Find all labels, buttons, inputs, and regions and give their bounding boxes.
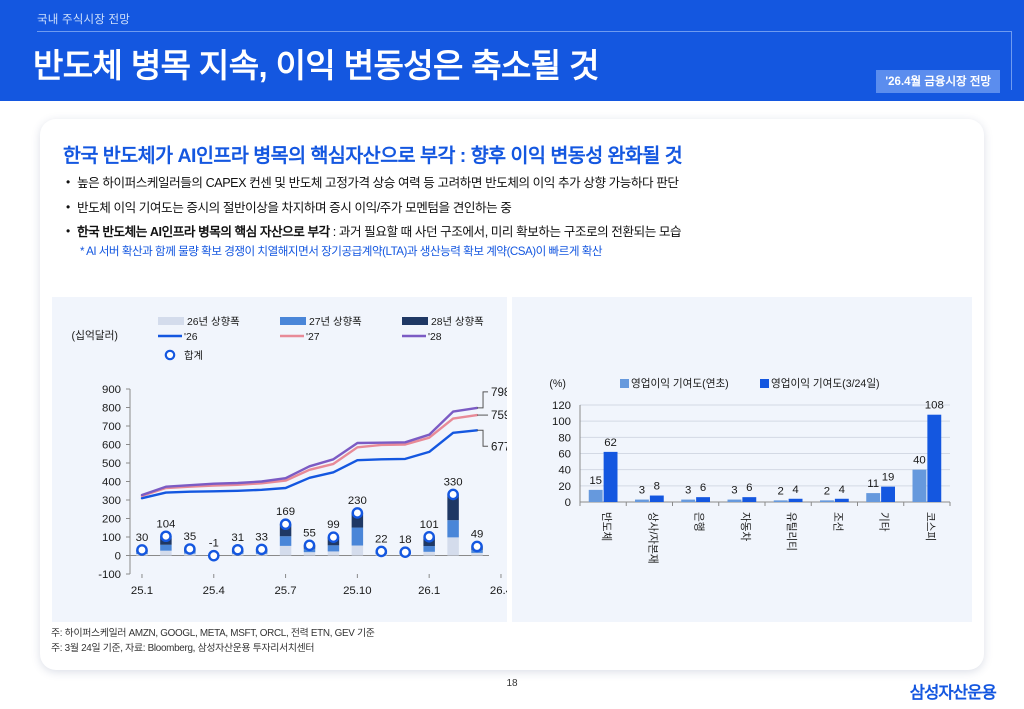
bar — [881, 487, 895, 502]
total-marker — [305, 541, 314, 550]
bar-value-label: 3 — [639, 485, 645, 497]
bar-value-label: 99 — [327, 519, 340, 531]
trend-line — [142, 415, 477, 496]
category-label: 은행 — [693, 512, 705, 532]
y-tick-label: 80 — [558, 432, 571, 444]
bar — [650, 496, 664, 502]
y-tick-label: 120 — [552, 400, 571, 412]
bar-value-label: 169 — [276, 506, 295, 518]
bar — [742, 497, 756, 502]
category-label: 상사/자본재 — [646, 512, 658, 564]
stacked-bar-segment — [352, 546, 363, 556]
legend-label: 합계 — [184, 350, 203, 362]
total-marker — [425, 532, 434, 541]
total-marker — [353, 508, 362, 517]
stacked-bar-segment — [280, 546, 291, 556]
category-label: 반도체 — [600, 512, 612, 541]
footnote-source-2: 주: 3월 24일 기준, 자료: Bloomberg, 삼성자산운용 투자리서… — [51, 640, 314, 654]
total-marker — [377, 547, 386, 556]
y-tick-label: 0 — [565, 497, 571, 509]
line-end-label: 677 — [491, 440, 507, 453]
bar-value-label: 15 — [589, 475, 602, 487]
total-marker — [329, 533, 338, 542]
bullet-list: 높은 하이퍼스케일러들의 CAPEX 컨센 및 반도체 고정가격 상승 여력 등… — [66, 177, 966, 259]
bar-value-label: 108 — [925, 400, 944, 412]
bar-value-label: 40 — [913, 455, 926, 467]
total-marker — [281, 520, 290, 529]
x-tick-label: 25.4 — [203, 585, 225, 597]
total-marker — [257, 545, 266, 554]
bullet-item: 높은 하이퍼스케일러들의 CAPEX 컨센 및 반도체 고정가격 상승 여력 등… — [66, 177, 966, 190]
stacked-bar-segment — [160, 545, 171, 551]
callout-leader — [477, 430, 488, 446]
left-chart-svg: (십억달러)26년 상향폭27년 상향폭28년 상향폭'26'27'28합계90… — [52, 297, 507, 622]
bar-value-label: 62 — [604, 437, 617, 449]
y-tick-label: 60 — [558, 449, 571, 461]
y-tick-label: 100 — [102, 532, 121, 544]
bar-value-label: 6 — [746, 482, 752, 494]
bar — [681, 500, 695, 502]
x-tick-label: 25.7 — [274, 585, 296, 597]
bullet-bold-part: 한국 반도체는 AI인프라 병목의 핵심 자산으로 부각 — [77, 225, 330, 239]
bar-value-label: 2 — [778, 485, 784, 497]
stacked-bar-segment — [471, 553, 482, 556]
y-tick-label: 20 — [558, 481, 571, 493]
category-label: 유틸리티 — [785, 512, 798, 551]
callout-leader — [477, 392, 488, 408]
y-tick-label: 200 — [102, 514, 121, 526]
right-axis-unit: (%) — [549, 378, 566, 390]
y-tick-label: 0 — [115, 551, 121, 563]
legend-label: '28 — [428, 332, 442, 343]
legend-label: 28년 상향폭 — [431, 316, 484, 328]
bar-value-label: 330 — [444, 476, 463, 488]
x-tick-label: 26.4 — [490, 585, 507, 597]
bar-value-label: 230 — [348, 495, 367, 507]
total-marker — [209, 551, 218, 560]
eyebrow-text: 국내 주식시장 전망 — [37, 11, 130, 27]
category-label: 코스피 — [924, 512, 936, 541]
slide-root: 국내 주식시장 전망 반도체 병목 지속, 이익 변동성은 축소될 것 '26.… — [0, 0, 1024, 709]
right-chart-panel: (%)영업이익 기여도(연초)영업이익 기여도(3/24일)1201008060… — [512, 297, 972, 622]
stacked-bar-segment — [160, 551, 171, 556]
legend-label: 27년 상향폭 — [309, 316, 362, 328]
brand-logo: 삼성자산운용 — [910, 679, 996, 703]
total-marker — [449, 490, 458, 499]
stacked-bar-segment — [423, 546, 434, 552]
legend-swatch — [158, 317, 184, 325]
x-tick-label: 25.1 — [131, 585, 153, 597]
y-tick-label: 40 — [558, 465, 571, 477]
y-tick-label: 100 — [552, 416, 571, 428]
stacked-bar-segment — [304, 552, 315, 555]
x-tick-label: 26.1 — [418, 585, 440, 597]
y-tick-label: 600 — [102, 440, 121, 452]
y-tick-label: 700 — [102, 421, 121, 433]
lead-headline: 한국 반도체가 AI인프라 병목의 핵심자산으로 부각 : 향후 이익 변동성 … — [63, 139, 682, 168]
bar-value-label: 19 — [882, 472, 895, 484]
bar — [913, 470, 927, 502]
stacked-bar-segment — [352, 528, 363, 546]
stacked-bar-segment — [280, 536, 291, 546]
bullet-item: 한국 반도체는 AI인프라 병목의 핵심 자산으로 부각 : 과거 필요할 때 … — [66, 226, 966, 239]
bar-value-label: 30 — [136, 532, 149, 544]
bar-value-label: 35 — [183, 531, 196, 543]
category-label: 기타 — [878, 512, 890, 532]
bar-value-label: 4 — [792, 484, 798, 496]
left-axis-unit: (십억달러) — [72, 330, 118, 342]
footnote-source-1: 주: 하이퍼스케일러 AMZN, GOOGL, META, MSFT, ORCL… — [51, 625, 375, 639]
y-tick-label: -100 — [98, 569, 121, 581]
total-marker — [185, 544, 194, 553]
stacked-bar-segment — [423, 552, 434, 556]
page-number: 18 — [0, 678, 1024, 689]
line-end-label: 798 — [491, 386, 507, 399]
category-label: 자동차 — [739, 512, 751, 541]
total-marker — [401, 548, 410, 557]
legend-swatch — [280, 317, 306, 325]
bar-value-label: 6 — [700, 482, 706, 494]
page-title: 반도체 병목 지속, 이익 변동성은 축소될 것 — [33, 39, 599, 87]
header-vertical-rule — [1011, 31, 1012, 90]
y-tick-label: 900 — [102, 384, 121, 396]
legend-label: 영업이익 기여도(3/24일) — [771, 377, 880, 390]
legend-swatch — [760, 379, 769, 388]
bar — [728, 500, 742, 502]
bar-value-label: 31 — [231, 532, 244, 544]
bullet-item: 반도체 이익 기여도는 증시의 절반이상을 차지하며 증시 이익/주가 모멘텀을… — [66, 202, 966, 215]
bar-value-label: 101 — [420, 519, 439, 531]
bullet-subnote: * AI 서버 확산과 함께 물량 확보 경쟁이 치열해지면서 장기공급계약(L… — [66, 243, 966, 259]
legend-label: '26 — [184, 332, 198, 343]
bullet-rest-part: : 과거 필요할 때 사던 구조에서, 미리 확보하는 구조로의 전환되는 모습 — [330, 225, 681, 239]
category-label: 조선 — [831, 512, 843, 532]
legend-marker — [166, 351, 174, 359]
bar-value-label: 8 — [654, 481, 660, 493]
stacked-bar-segment — [328, 545, 339, 551]
x-tick-label: 25.10 — [343, 585, 372, 597]
bar — [774, 500, 788, 502]
total-marker — [233, 545, 242, 554]
legend-label: 영업이익 기여도(연초) — [631, 377, 729, 390]
left-chart-panel: (십억달러)26년 상향폭27년 상향폭28년 상향폭'26'27'28합계90… — [52, 297, 507, 622]
stacked-bar-segment — [447, 537, 458, 555]
legend-swatch — [402, 317, 428, 325]
stacked-bar-segment — [328, 551, 339, 555]
bar — [635, 500, 649, 502]
bar — [696, 497, 710, 502]
bar-value-label: 49 — [471, 528, 484, 540]
stacked-bar-segment — [447, 520, 458, 537]
bar-value-label: 2 — [824, 485, 830, 497]
bar-value-label: -1 — [209, 538, 219, 550]
bar — [866, 493, 880, 502]
bar-value-label: 3 — [731, 485, 737, 497]
total-marker — [161, 532, 170, 541]
bar-value-label: 104 — [156, 518, 175, 530]
legend-label: '27 — [306, 332, 320, 343]
total-marker — [137, 545, 146, 554]
bar — [835, 499, 849, 502]
bar — [589, 490, 603, 502]
bar-value-label: 3 — [685, 485, 691, 497]
bar — [789, 499, 803, 502]
bar — [820, 500, 834, 502]
header-divider — [37, 31, 1012, 32]
bar-value-label: 4 — [839, 484, 845, 496]
right-chart-svg: (%)영업이익 기여도(연초)영업이익 기여도(3/24일)1201008060… — [512, 297, 972, 622]
line-end-label: 759 — [491, 409, 507, 422]
bar-value-label: 11 — [867, 478, 879, 490]
bar — [927, 415, 941, 502]
bar-value-label: 18 — [399, 534, 412, 546]
y-tick-label: 800 — [102, 403, 121, 415]
total-marker — [472, 542, 481, 551]
content-card: 한국 반도체가 AI인프라 병목의 핵심자산으로 부각 : 향후 이익 변동성 … — [40, 119, 984, 670]
y-tick-label: 300 — [102, 495, 121, 507]
bar-value-label: 33 — [255, 531, 268, 543]
y-tick-label: 500 — [102, 458, 121, 470]
bar — [604, 452, 618, 502]
bar-value-label: 22 — [375, 533, 388, 545]
y-tick-label: 400 — [102, 477, 121, 489]
legend-swatch — [620, 379, 629, 388]
trend-line — [142, 430, 477, 498]
issue-badge: '26.4월 금융시장 전망 — [876, 70, 1000, 93]
bar-value-label: 55 — [303, 527, 316, 539]
legend-label: 26년 상향폭 — [187, 316, 240, 328]
